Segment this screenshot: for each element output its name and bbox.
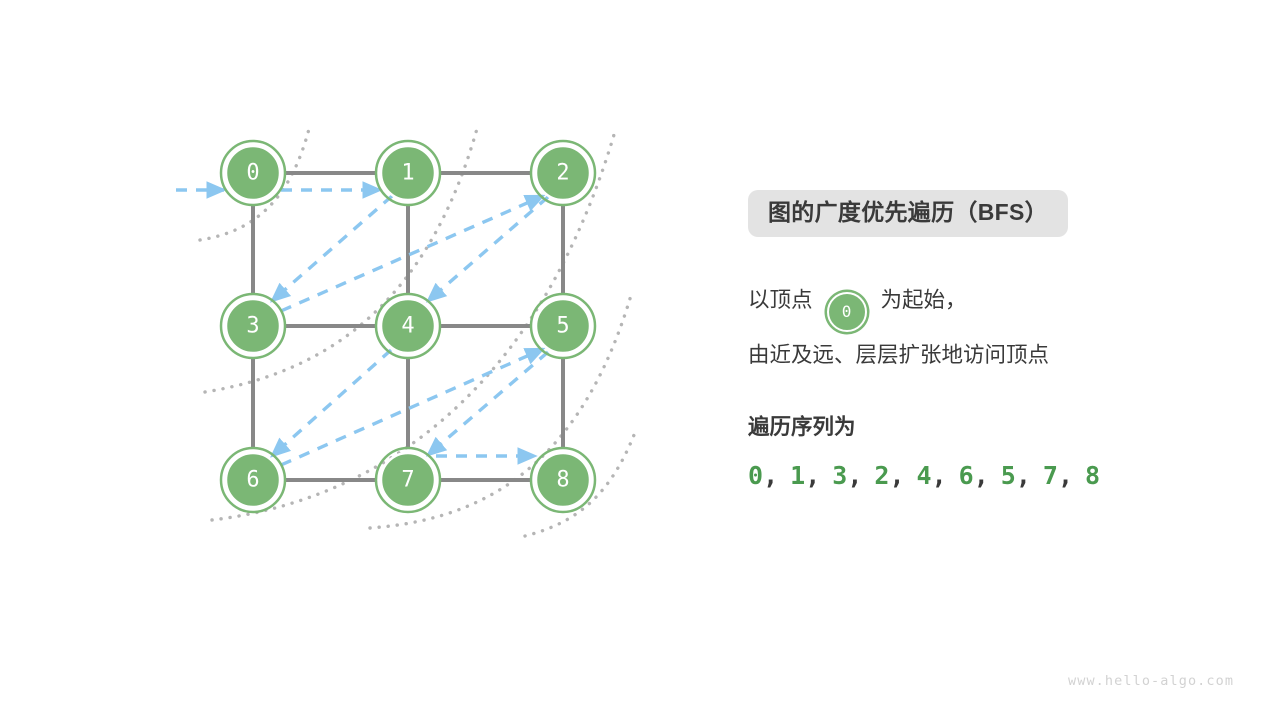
vertex-8[interactable]: 8 bbox=[531, 448, 595, 512]
vertex-6-label: 6 bbox=[246, 468, 259, 493]
description-line-2: 由近及远、层层扩张地访问顶点 bbox=[748, 332, 1208, 379]
sequence-item: 0 bbox=[748, 461, 763, 490]
explanation-panel: 图的广度优先遍历（BFS） 以顶点0为起始， 由近及远、层层扩张地访问顶点 遍历… bbox=[748, 190, 1208, 488]
vertex-8-label: 8 bbox=[556, 468, 569, 493]
sequence-item: 5 bbox=[1001, 461, 1016, 490]
sequence-separator: , bbox=[763, 461, 778, 490]
sequence-separator: , bbox=[974, 461, 989, 490]
description-line-1-suffix: 为起始， bbox=[881, 288, 967, 312]
vertex-3[interactable]: 3 bbox=[221, 294, 285, 358]
sequence-item: 4 bbox=[917, 461, 932, 490]
description-block: 以顶点0为起始， 由近及远、层层扩张地访问顶点 bbox=[748, 277, 1208, 379]
sequence-item: 8 bbox=[1085, 461, 1100, 490]
vertex-0[interactable]: 0 bbox=[221, 141, 285, 205]
site-watermark: www.hello-algo.com bbox=[1068, 673, 1234, 689]
sequence-item: 1 bbox=[790, 461, 805, 490]
vertex-1[interactable]: 1 bbox=[376, 141, 440, 205]
sequence-item: 7 bbox=[1043, 461, 1058, 490]
bfs-arrow-1-3 bbox=[272, 196, 392, 301]
vertex-4-label: 4 bbox=[401, 314, 414, 339]
vertex-6[interactable]: 6 bbox=[221, 448, 285, 512]
sequence-separator: , bbox=[932, 461, 947, 490]
traversal-sequence: 0,1,3,2,4,6,5,7,8 bbox=[748, 463, 1208, 488]
sequence-separator: , bbox=[889, 461, 904, 490]
bfs-arrow-2-4 bbox=[428, 197, 548, 301]
vertex-5[interactable]: 5 bbox=[531, 294, 595, 358]
vertex-1-label: 1 bbox=[401, 161, 414, 186]
sequence-heading: 遍历序列为 bbox=[748, 417, 1208, 439]
sequence-separator: , bbox=[1016, 461, 1031, 490]
sequence-separator: , bbox=[805, 461, 820, 490]
description-line-1-prefix: 以顶点 bbox=[748, 288, 813, 312]
vertex-2[interactable]: 2 bbox=[531, 141, 595, 205]
sequence-separator: , bbox=[1058, 461, 1073, 490]
sequence-item: 3 bbox=[832, 461, 847, 490]
sequence-separator: , bbox=[847, 461, 862, 490]
vertex-5-label: 5 bbox=[556, 314, 569, 339]
bfs-arrow-5-7 bbox=[428, 352, 548, 455]
description-line-1: 以顶点0为起始， bbox=[748, 277, 1208, 332]
bfs-arrow-4-6 bbox=[272, 350, 391, 456]
vertex-7[interactable]: 7 bbox=[376, 448, 440, 512]
vertex-0-label: 0 bbox=[246, 161, 259, 186]
start-vertex-chip: 0 bbox=[827, 292, 867, 332]
sequence-item: 2 bbox=[874, 461, 889, 490]
vertex-7-label: 7 bbox=[401, 468, 414, 493]
vertex-3-label: 3 bbox=[246, 314, 259, 339]
page-title: 图的广度优先遍历（BFS） bbox=[748, 190, 1068, 237]
vertex-4[interactable]: 4 bbox=[376, 294, 440, 358]
sequence-item: 6 bbox=[959, 461, 974, 490]
vertex-2-label: 2 bbox=[556, 161, 569, 186]
